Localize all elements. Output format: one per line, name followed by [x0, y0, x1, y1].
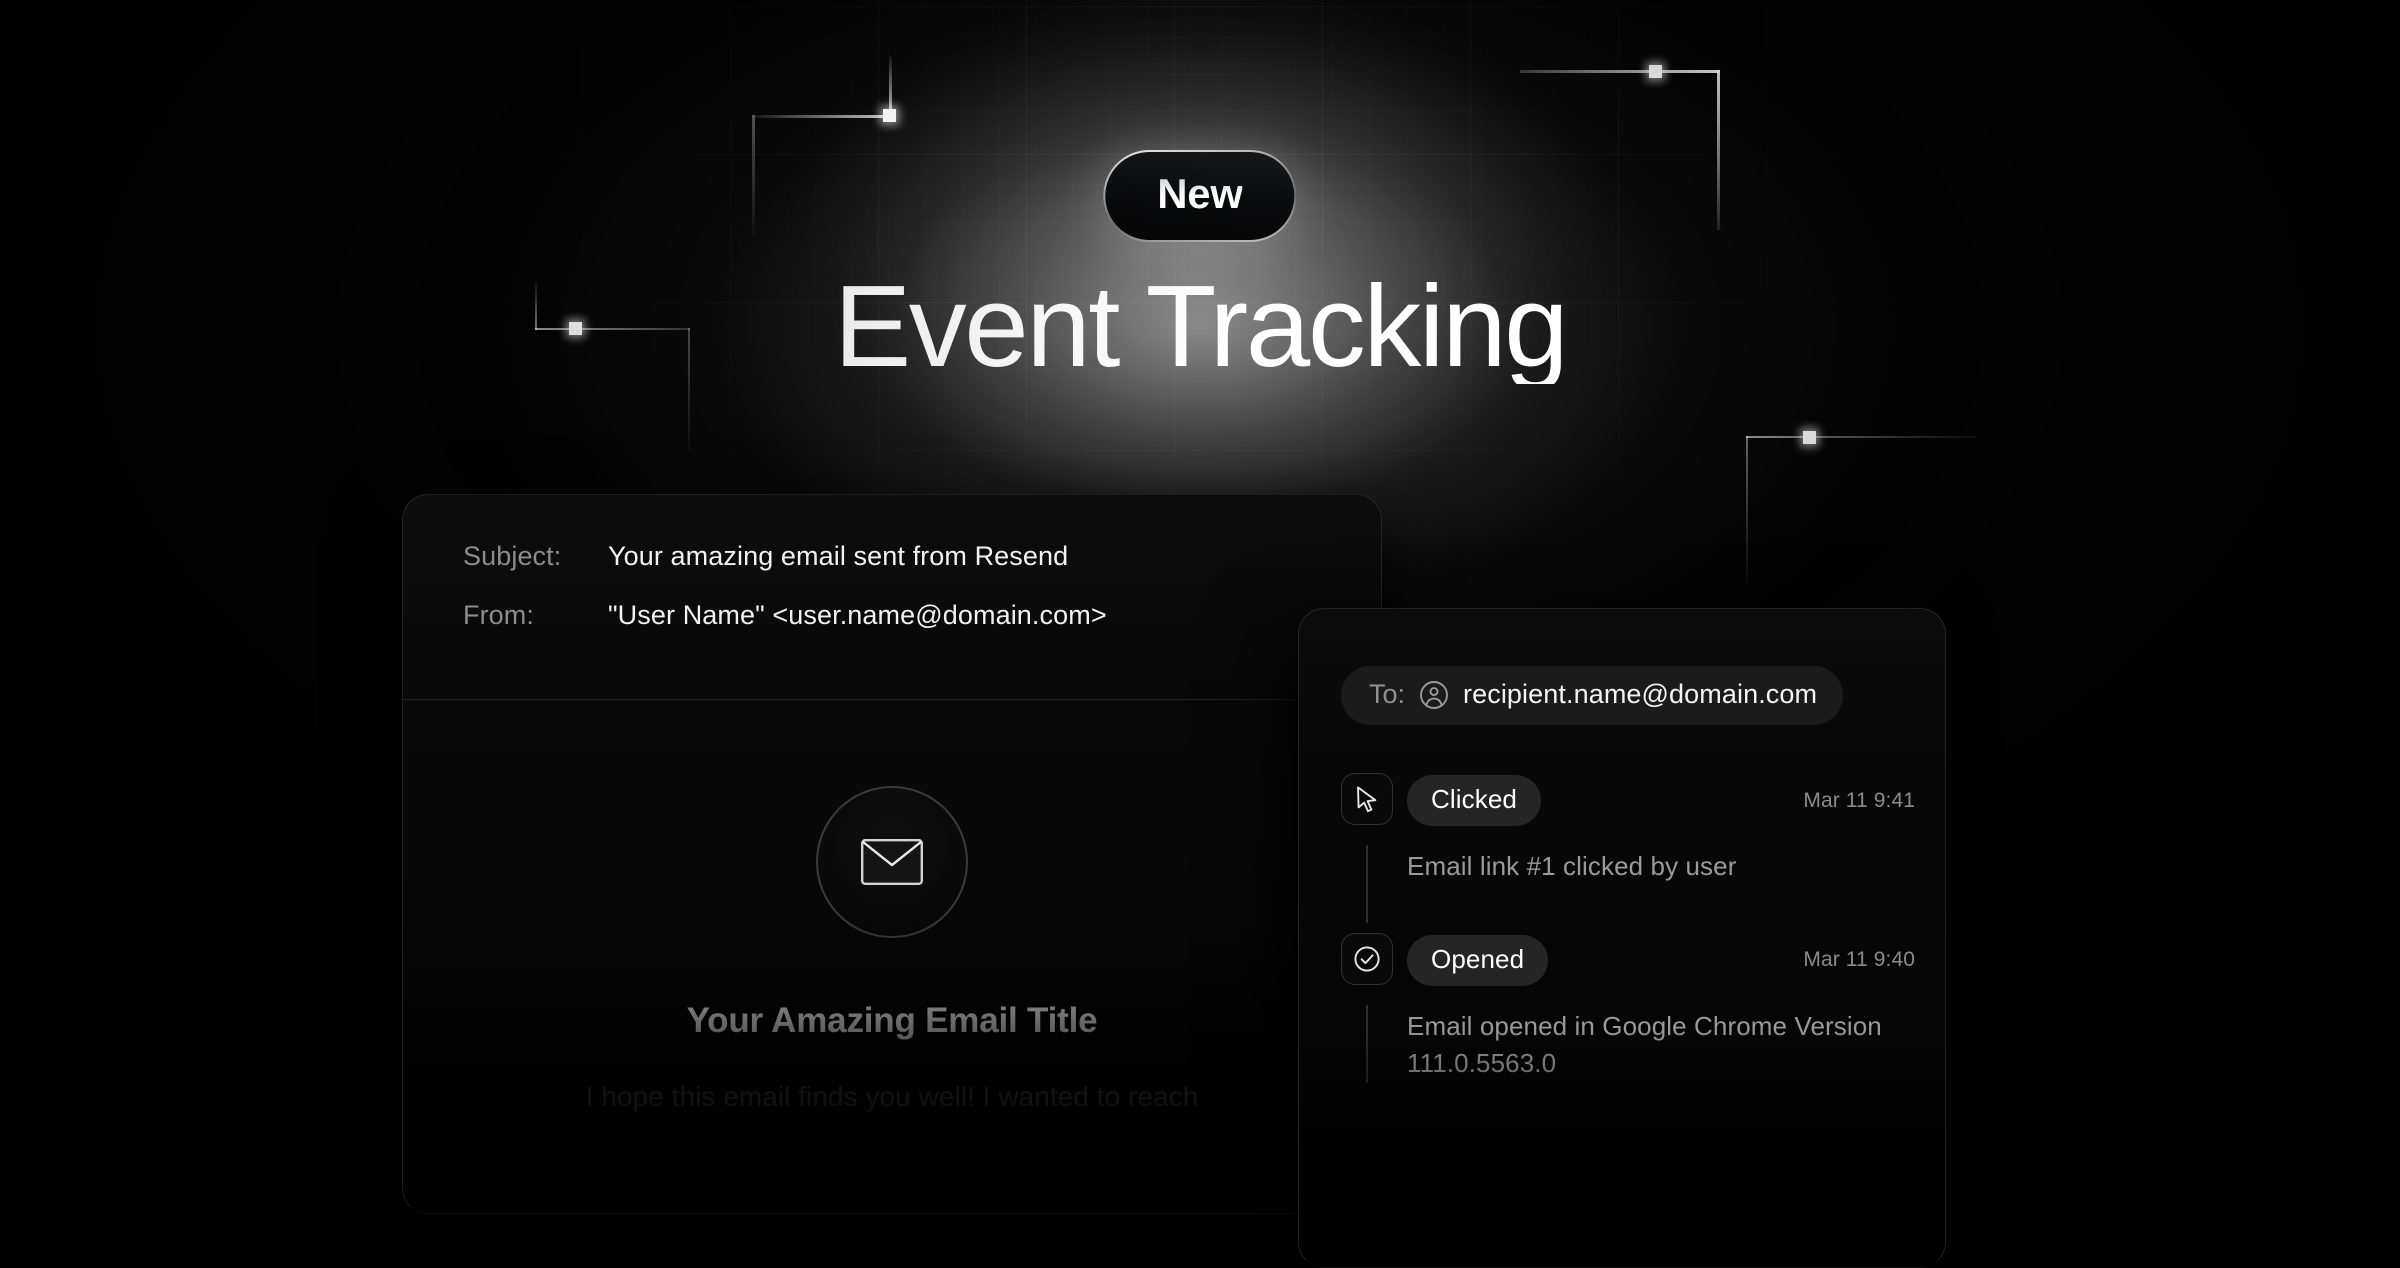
event-connector-line	[1366, 845, 1368, 923]
email-from-row: From: "User Name" <user.name@domain.com>	[463, 600, 1381, 631]
new-badge-label: New	[1157, 173, 1242, 215]
email-body: Your Amazing Email Title I hope this ema…	[403, 699, 1381, 1213]
email-body-paragraph: I hope this email finds you well! I want…	[586, 1077, 1199, 1118]
email-subject-row: Subject: Your amazing email sent from Re…	[463, 541, 1381, 572]
check-circle-icon	[1341, 933, 1393, 985]
email-header: Subject: Your amazing email sent from Re…	[403, 495, 1381, 631]
event-tracking-panel: To: recipient.name@domain.com	[1298, 608, 1946, 1268]
status-badge: Clicked	[1407, 775, 1541, 826]
event-content: Opened Mar 11 9:40 Email opened in Googl…	[1407, 933, 1919, 1082]
event-timestamp: Mar 11 9:41	[1803, 789, 1919, 813]
email-preview-card: Subject: Your amazing email sent from Re…	[402, 494, 1382, 1214]
new-badge[interactable]: New	[1103, 150, 1296, 242]
event-item-clicked[interactable]: Clicked Mar 11 9:41 Email link #1 clicke…	[1341, 773, 1919, 885]
email-subject-value: Your amazing email sent from Resend	[608, 541, 1068, 572]
event-list: Clicked Mar 11 9:41 Email link #1 clicke…	[1341, 773, 1919, 1082]
event-header-row: Opened Mar 11 9:40	[1407, 935, 1919, 986]
recipient-address: recipient.name@domain.com	[1463, 679, 1817, 710]
new-badge-inner: New	[1105, 152, 1294, 240]
email-subject-label: Subject:	[463, 541, 608, 572]
envelope-icon	[816, 786, 968, 938]
event-icon-column	[1341, 933, 1407, 985]
recipient-to-label: To:	[1369, 679, 1405, 710]
event-description: Email link #1 clicked by user	[1407, 848, 1919, 885]
email-from-value: "User Name" <user.name@domain.com>	[608, 600, 1107, 631]
event-item-opened[interactable]: Opened Mar 11 9:40 Email opened in Googl…	[1341, 933, 1919, 1082]
event-header-row: Clicked Mar 11 9:41	[1407, 775, 1919, 826]
email-body-title: Your Amazing Email Title	[687, 1001, 1098, 1041]
event-connector-line	[1366, 1005, 1368, 1083]
email-from-label: From:	[463, 600, 608, 631]
user-circle-icon	[1419, 680, 1449, 710]
event-timestamp: Mar 11 9:40	[1803, 948, 1919, 972]
event-content: Clicked Mar 11 9:41 Email link #1 clicke…	[1407, 773, 1919, 885]
event-icon-column	[1341, 773, 1407, 825]
page-title: Event Tracking	[0, 268, 2400, 384]
recipient-field[interactable]: To: recipient.name@domain.com	[1341, 666, 1843, 725]
event-description: Email opened in Google Chrome Version 11…	[1407, 1008, 1919, 1082]
status-badge: Opened	[1407, 935, 1548, 986]
event-spacer	[1341, 885, 1919, 933]
cursor-arrow-icon	[1341, 773, 1393, 825]
